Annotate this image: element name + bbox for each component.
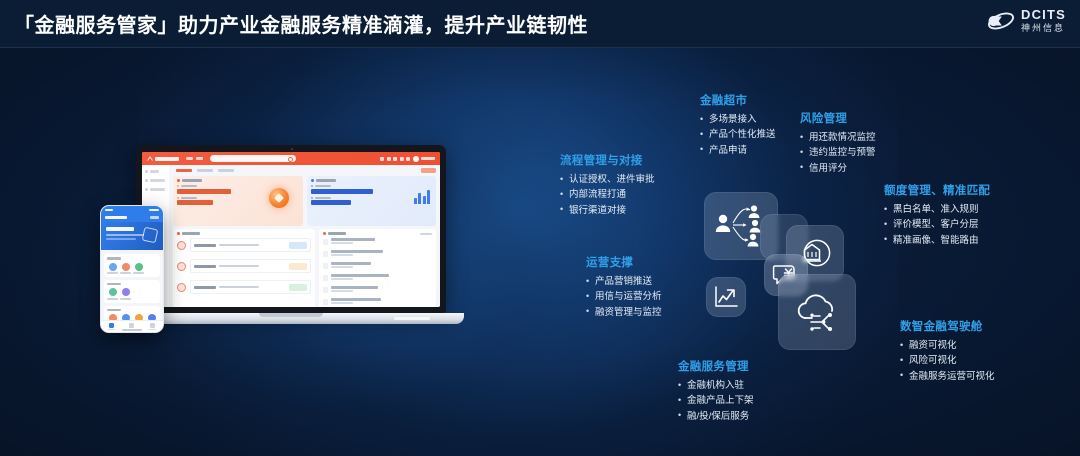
feature-list-item: 金融产品上下架 <box>678 393 754 408</box>
feature-title: 风险管理 <box>800 110 876 126</box>
news-item[interactable] <box>323 286 432 294</box>
laptop-camera-icon <box>291 148 293 150</box>
feature-service-management: 金融服务管理 金融机构入驻 金融产品上下架 融/投/保后服务 <box>678 358 754 424</box>
feature-digital-cockpit: 数智金融驾驶舱 融资可视化 风险可视化 金融服务运营可视化 <box>900 318 995 384</box>
timeline-card[interactable] <box>190 238 311 252</box>
laptop-lid <box>136 145 446 313</box>
feature-list-item: 融资可视化 <box>900 338 995 353</box>
laptop-base <box>118 313 464 324</box>
phone-grid-item[interactable] <box>120 263 131 274</box>
news-thumb-icon <box>323 239 328 245</box>
dashboard-kpi-row <box>173 176 436 226</box>
glass-card-growth-chart <box>706 277 746 317</box>
phone-section-card <box>104 254 160 277</box>
laptop-mockup <box>136 145 446 335</box>
feature-list-item: 产品营销推送 <box>586 274 662 289</box>
phone-home-indicator <box>122 329 142 331</box>
phone-banner-title <box>106 227 134 231</box>
sidebar-item-icon <box>145 179 148 182</box>
sidebar-item-icon <box>145 170 148 173</box>
feature-list: 认证授权、进件审批 内部流程打通 银行渠道对接 <box>560 172 655 218</box>
phone-screen <box>101 206 163 332</box>
feature-list: 黑白名单、准入规则 评价模型、客户分层 精准画像、智能路由 <box>884 202 990 248</box>
phone-grid-item[interactable] <box>107 288 118 299</box>
phone-section-title <box>107 283 121 286</box>
dashboard-brand-text <box>155 157 179 161</box>
phone-tab-profile[interactable] <box>149 323 156 331</box>
icon-cluster <box>700 192 882 360</box>
dashboard-username[interactable] <box>421 157 435 160</box>
phone-section-card <box>104 280 160 303</box>
phone-grid-item[interactable] <box>133 263 144 274</box>
timeline-status-badge <box>289 284 307 291</box>
phone-app-title <box>105 216 127 219</box>
cloud-tech-icon <box>792 291 842 333</box>
sidebar-item[interactable] <box>145 188 166 191</box>
phone-tab-home[interactable] <box>108 323 115 331</box>
feature-list-item: 融资管理与监控 <box>586 305 662 320</box>
phone-clock <box>105 209 113 211</box>
timeline-row[interactable] <box>177 238 311 252</box>
page-title: 「金融服务管家」助力产业金融服务精准滴灌，提升产业链韧性 <box>14 9 588 38</box>
phone-grid-item[interactable] <box>107 263 118 274</box>
glass-card-cloud-tech <box>778 274 856 350</box>
feature-list: 多场景接入 产品个性化推送 产品申请 <box>700 112 776 158</box>
feature-risk-management: 风险管理 用还款情况监控 违约监控与预警 信用评分 <box>800 110 876 176</box>
news-thumb-icon <box>323 263 328 269</box>
phone-section-title <box>107 309 121 312</box>
timeline-status-badge <box>289 242 307 249</box>
kpi-value <box>311 200 351 205</box>
panel-process-timeline <box>173 229 315 307</box>
news-thumb-icon <box>323 299 328 305</box>
feature-title: 金融服务管理 <box>678 358 754 374</box>
feature-operation-support: 运营支撑 产品营销推送 用信与运营分析 融资管理与监控 <box>586 254 662 320</box>
news-item[interactable] <box>323 274 432 282</box>
sidebar-item-label <box>150 188 165 191</box>
phone-banner-subtitle <box>106 234 144 236</box>
news-thumb-icon <box>323 287 328 293</box>
growth-chart-icon <box>713 285 739 309</box>
news-item[interactable] <box>323 298 432 306</box>
dashboard-panel-row <box>173 229 436 307</box>
feature-list: 用还款情况监控 违约监控与预警 信用评分 <box>800 130 876 176</box>
feature-list-item: 多场景接入 <box>700 112 776 127</box>
dashboard-topbar-actions[interactable] <box>380 156 435 162</box>
feature-list-item: 精准画像、智能路由 <box>884 233 990 248</box>
kpi-label <box>177 185 299 187</box>
sidebar-item-icon <box>145 188 148 191</box>
sidebar-item[interactable] <box>145 179 166 182</box>
timeline-row[interactable] <box>177 280 311 294</box>
kpi-card-header <box>311 179 433 182</box>
phone-icon-grid[interactable] <box>107 263 157 274</box>
dashboard-tabs[interactable] <box>173 168 436 173</box>
news-item[interactable] <box>323 238 432 246</box>
kpi-value <box>311 189 373 194</box>
sidebar-item-label <box>150 170 159 173</box>
dashboard-brand <box>147 156 179 162</box>
feature-title: 运营支撑 <box>586 254 662 270</box>
dashboard-tab[interactable] <box>197 169 213 172</box>
panel-header <box>323 232 432 235</box>
news-thumb-icon <box>323 251 328 257</box>
phone-notch <box>122 206 142 210</box>
device-mockups <box>100 140 460 355</box>
feature-list: 金融机构入驻 金融产品上下架 融/投/保后服务 <box>678 378 754 424</box>
dashboard-tab[interactable] <box>176 169 192 172</box>
phone-grid-item[interactable] <box>120 288 131 299</box>
brand-name-en: DCITS <box>1021 8 1066 21</box>
brand-name-cn: 神州信息 <box>1021 24 1066 33</box>
feature-list-item: 融/投/保后服务 <box>678 409 754 424</box>
brand-logo: DCITS 神州信息 <box>987 8 1066 33</box>
timeline-card[interactable] <box>190 280 311 294</box>
dashboard-bell-icon[interactable] <box>393 157 397 161</box>
feature-title: 数智金融驾驶舱 <box>900 318 995 334</box>
kpi-card-credit <box>307 176 437 226</box>
dashboard-logo-icon <box>147 156 153 162</box>
phone-icon-grid[interactable] <box>107 288 157 299</box>
feature-list-item: 黑白名单、准入规则 <box>884 202 990 217</box>
phone-section-title <box>107 257 121 260</box>
brand-logo-text: DCITS 神州信息 <box>1021 8 1066 33</box>
dashboard-tab[interactable] <box>218 169 234 172</box>
dashboard-primary-button[interactable] <box>421 168 436 173</box>
feature-list-item: 风险可视化 <box>900 353 995 368</box>
feature-list: 产品营销推送 用信与运营分析 融资管理与监控 <box>586 274 662 320</box>
kpi-card-financing <box>173 176 303 226</box>
kpi-value <box>177 200 213 205</box>
feature-list-item: 产品个性化推送 <box>700 127 776 142</box>
feature-list-item: 评价模型、客户分层 <box>884 217 990 232</box>
phone-app-header <box>101 213 163 222</box>
feature-title: 流程管理与对接 <box>560 152 655 168</box>
phone-banner-decoration-icon <box>142 227 159 244</box>
feature-list-item: 产品申请 <box>700 143 776 158</box>
feature-list-item: 用还款情况监控 <box>800 130 876 145</box>
feature-title: 额度管理、精准匹配 <box>884 182 990 198</box>
feature-list-item: 内部流程打通 <box>560 187 655 202</box>
feature-list-item: 用信与运营分析 <box>586 289 662 304</box>
sidebar-item-label <box>150 179 165 182</box>
dashboard-body <box>142 165 440 307</box>
kpi-label <box>311 185 433 187</box>
phone-hero-banner <box>101 222 163 250</box>
dashboard-settings-icon[interactable] <box>406 157 410 161</box>
panel-header <box>177 232 311 235</box>
dashboard-grid-icon[interactable] <box>380 157 384 161</box>
laptop-base-highlight <box>394 317 430 320</box>
kpi-bar-chart-icon <box>414 188 431 204</box>
dashboard-topbar <box>142 152 440 165</box>
dashboard-avatar[interactable] <box>413 156 419 162</box>
panel-news-list <box>319 229 436 307</box>
feature-list-item: 违约监控与预警 <box>800 145 876 160</box>
timeline-node-icon <box>177 241 186 250</box>
dashboard-nav[interactable] <box>186 157 203 160</box>
kpi-value <box>177 189 231 194</box>
phone-mockup <box>100 205 164 333</box>
feature-list-item: 信用评分 <box>800 161 876 176</box>
phone-banner-subtitle <box>106 238 136 240</box>
news-thumb-icon <box>323 275 328 281</box>
phone-status-icons <box>149 209 159 211</box>
panel-more-link[interactable] <box>420 233 432 235</box>
kpi-orb-decoration-icon <box>269 188 289 208</box>
feature-quota-matching: 额度管理、精准匹配 黑白名单、准入规则 评价模型、客户分层 精准画像、智能路由 <box>884 182 990 248</box>
feature-list-item: 银行渠道对接 <box>560 203 655 218</box>
feature-list-item: 金融机构入驻 <box>678 378 754 393</box>
dashboard-help-icon[interactable] <box>400 157 404 161</box>
dashboard-search-input[interactable] <box>210 155 296 162</box>
news-item[interactable] <box>323 250 432 258</box>
kpi-card-header <box>177 179 299 182</box>
timeline-node-icon <box>177 262 186 271</box>
feature-title: 金融超市 <box>700 92 776 108</box>
laptop-screen <box>142 152 440 307</box>
dcits-swoosh-logo-icon <box>987 9 1015 33</box>
timeline-card[interactable] <box>190 259 311 273</box>
timeline-node-icon <box>177 283 186 292</box>
page-header: 「金融服务管家」助力产业金融服务精准滴灌，提升产业链韧性 DCITS 神州信息 <box>0 0 1080 48</box>
sidebar-item[interactable] <box>145 170 166 173</box>
feature-list-item: 金融服务运营可视化 <box>900 369 995 384</box>
feature-financial-supermarket: 金融超市 多场景接入 产品个性化推送 产品申请 <box>700 92 776 158</box>
news-item[interactable] <box>323 262 432 270</box>
dashboard-search-icon[interactable] <box>387 157 391 161</box>
feature-list-item: 认证授权、进件审批 <box>560 172 655 187</box>
feature-process-management: 流程管理与对接 认证授权、进件审批 内部流程打通 银行渠道对接 <box>560 152 655 218</box>
timeline-row[interactable] <box>177 259 311 273</box>
feature-list: 融资可视化 风险可视化 金融服务运营可视化 <box>900 338 995 384</box>
phone-header-action[interactable] <box>150 216 159 219</box>
timeline-status-badge <box>289 263 307 270</box>
dashboard-main <box>169 165 440 307</box>
